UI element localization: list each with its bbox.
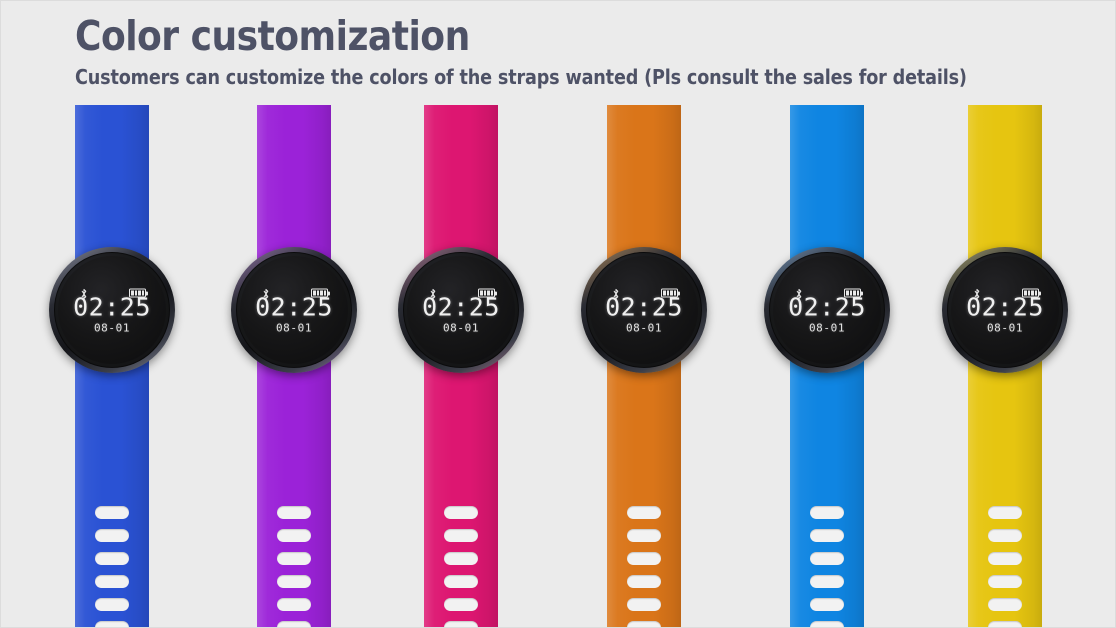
watch-date: 08-01 [962,323,1048,334]
watch-unit-blue[interactable]: 02:2508-01 [75,105,149,628]
strap-hole [95,575,129,588]
strap-hole [277,506,311,519]
watch-display: 02:2508-01 [251,287,337,334]
bluetooth-icon [429,287,437,298]
watch-status-row [609,287,679,298]
watch-display: 02:2508-01 [418,287,504,334]
slide-header: Color customization Customers can custom… [75,13,1055,90]
strap-hole [810,575,844,588]
strap-hole [627,621,661,628]
battery-segment [1024,291,1027,296]
watch-display: 02:2508-01 [962,287,1048,334]
battery-icon [311,289,328,298]
strap-hole [277,575,311,588]
battery-icon [1022,289,1039,298]
battery-segment [663,291,666,296]
watch-date: 08-01 [601,323,687,334]
battery-segment [857,291,860,296]
bluetooth-icon [80,287,88,298]
battery-segment [142,291,145,296]
watch-date: 08-01 [69,323,155,334]
strap-holes [627,506,661,628]
strap-hole [277,552,311,565]
watch-unit-yellow[interactable]: 02:2508-01 [968,105,1042,628]
battery-segment [850,291,853,296]
battery-segment [1028,291,1031,296]
page-subtitle: Customers can customize the colors of th… [75,65,918,90]
battery-segment [674,291,677,296]
battery-segment [846,291,849,296]
strap-hole [810,621,844,628]
strap-hole [95,598,129,611]
strap-hole [988,506,1022,519]
watch-display: 02:2508-01 [784,287,870,334]
strap-hole [444,506,478,519]
battery-icon [478,289,495,298]
watch-case[interactable]: 02:2508-01 [49,247,175,373]
strap-hole [95,506,129,519]
watch-unit-orange[interactable]: 02:2508-01 [607,105,681,628]
watch-case[interactable]: 02:2508-01 [231,247,357,373]
watch-unit-purple[interactable]: 02:2508-01 [257,105,331,628]
watch-date: 08-01 [784,323,870,334]
watch-display: 02:2508-01 [601,287,687,334]
battery-icon [844,289,861,298]
battery-segment [853,291,856,296]
battery-segment [320,291,323,296]
battery-segment [324,291,327,296]
watch-case[interactable]: 02:2508-01 [942,247,1068,373]
strap-hole [444,621,478,628]
strap-holes [988,506,1022,628]
watch-case[interactable]: 02:2508-01 [398,247,524,373]
watch-display: 02:2508-01 [69,287,155,334]
watch-date: 08-01 [418,323,504,334]
battery-segment [131,291,134,296]
battery-segment [138,291,141,296]
strap-hole [810,529,844,542]
watch-status-row [792,287,862,298]
strap-holes [444,506,478,628]
watch-screen[interactable]: 02:2508-01 [240,256,348,364]
battery-segment [487,291,490,296]
watch-unit-magenta[interactable]: 02:2508-01 [424,105,498,628]
bluetooth-icon [262,287,270,298]
watch-status-row [259,287,329,298]
watch-date: 08-01 [251,323,337,334]
battery-segment [135,291,138,296]
strap-hole [988,529,1022,542]
strap-hole [988,552,1022,565]
strap-hole [810,552,844,565]
bluetooth-icon [973,287,981,298]
strap-hole [627,506,661,519]
strap-hole [810,598,844,611]
battery-segment [670,291,673,296]
strap-hole [988,621,1022,628]
strap-hole [810,506,844,519]
strap-hole [627,552,661,565]
strap-holes [810,506,844,628]
slide-canvas: Color customization Customers can custom… [0,0,1116,628]
strap-hole [627,529,661,542]
watch-status-row [426,287,496,298]
battery-segment [480,291,483,296]
battery-segment [313,291,316,296]
strap-hole [95,529,129,542]
watch-screen[interactable]: 02:2508-01 [590,256,698,364]
strap-hole [988,575,1022,588]
watch-case[interactable]: 02:2508-01 [581,247,707,373]
strap-hole [95,621,129,628]
battery-segment [317,291,320,296]
battery-icon [661,289,678,298]
strap-hole [444,598,478,611]
battery-segment [1035,291,1038,296]
strap-hole [277,621,311,628]
strap-hole [988,598,1022,611]
strap-hole [444,552,478,565]
battery-segment [484,291,487,296]
watch-screen[interactable]: 02:2508-01 [773,256,881,364]
bluetooth-icon [795,287,803,298]
strap-hole [627,598,661,611]
strap-hole [627,575,661,588]
battery-segment [1031,291,1034,296]
watch-status-row [77,287,147,298]
strap-hole [444,575,478,588]
strap-holes [95,506,129,628]
bluetooth-icon [612,287,620,298]
strap-hole [277,598,311,611]
page-title: Color customization [75,13,937,60]
battery-segment [667,291,670,296]
strap-hole [277,529,311,542]
watch-status-row [970,287,1040,298]
battery-segment [491,291,494,296]
watch-screen[interactable]: 02:2508-01 [951,256,1059,364]
strap-hole [444,529,478,542]
watch-unit-light-blue[interactable]: 02:2508-01 [790,105,864,628]
watch-screen[interactable]: 02:2508-01 [58,256,166,364]
strap-hole [95,552,129,565]
strap-holes [277,506,311,628]
watch-case[interactable]: 02:2508-01 [764,247,890,373]
watch-gallery: 02:2508-0102:2508-0102:2508-0102:2508-01… [1,105,1116,628]
battery-icon [129,289,146,298]
watch-screen[interactable]: 02:2508-01 [407,256,515,364]
